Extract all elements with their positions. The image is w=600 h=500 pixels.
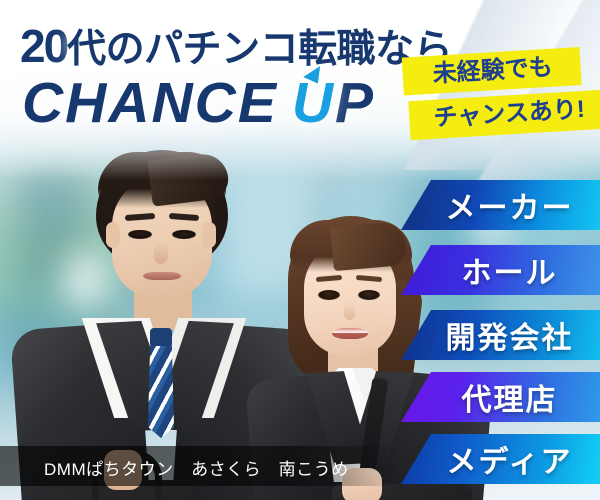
- eye-right: [358, 290, 380, 300]
- nose: [154, 242, 168, 264]
- headline-rest: 代のパチンコ転職なら: [67, 28, 452, 71]
- logo-letter-u: U: [292, 70, 335, 136]
- category-label: メディア: [429, 437, 573, 481]
- category-button-agency[interactable]: 代理店: [401, 372, 600, 422]
- category-button-hall[interactable]: ホール: [401, 245, 600, 295]
- category-label: ホール: [444, 248, 558, 292]
- category-label: 代理店: [444, 375, 558, 419]
- category-button-media[interactable]: メディア: [401, 434, 600, 484]
- mouth: [332, 328, 368, 339]
- eye-left: [128, 230, 152, 239]
- ear-right: [202, 222, 216, 248]
- logo-letter-p: P: [335, 71, 375, 135]
- tie-knot: [150, 328, 172, 348]
- category-button-development-company[interactable]: 開発会社: [401, 310, 600, 360]
- ad-banner[interactable]: 20代のパチンコ転職なら CHANCEUP 未経験でも チャンスあり! メーカー…: [0, 0, 600, 500]
- category-label: メーカー: [428, 183, 574, 227]
- category-button-maker[interactable]: メーカー: [401, 180, 600, 230]
- mouth: [143, 272, 181, 280]
- ear-left: [106, 222, 120, 248]
- eye-left: [318, 290, 340, 300]
- logo-chance-up: CHANCEUP: [22, 70, 375, 136]
- bangs-sweep: [330, 221, 408, 271]
- nose: [344, 302, 355, 320]
- eye-right: [172, 230, 196, 239]
- page-title: 20代のパチンコ転職なら: [20, 18, 452, 74]
- headline-number: 20: [20, 20, 67, 72]
- caption-credits: DMMぱちタウン あさくら 南こうめ: [44, 455, 349, 480]
- striped-tie: [148, 346, 174, 438]
- logo-word-chance: CHANCE: [22, 71, 278, 135]
- category-label: 開発会社: [428, 313, 574, 357]
- status-badge: 未経験でも チャンスあり!: [402, 47, 593, 141]
